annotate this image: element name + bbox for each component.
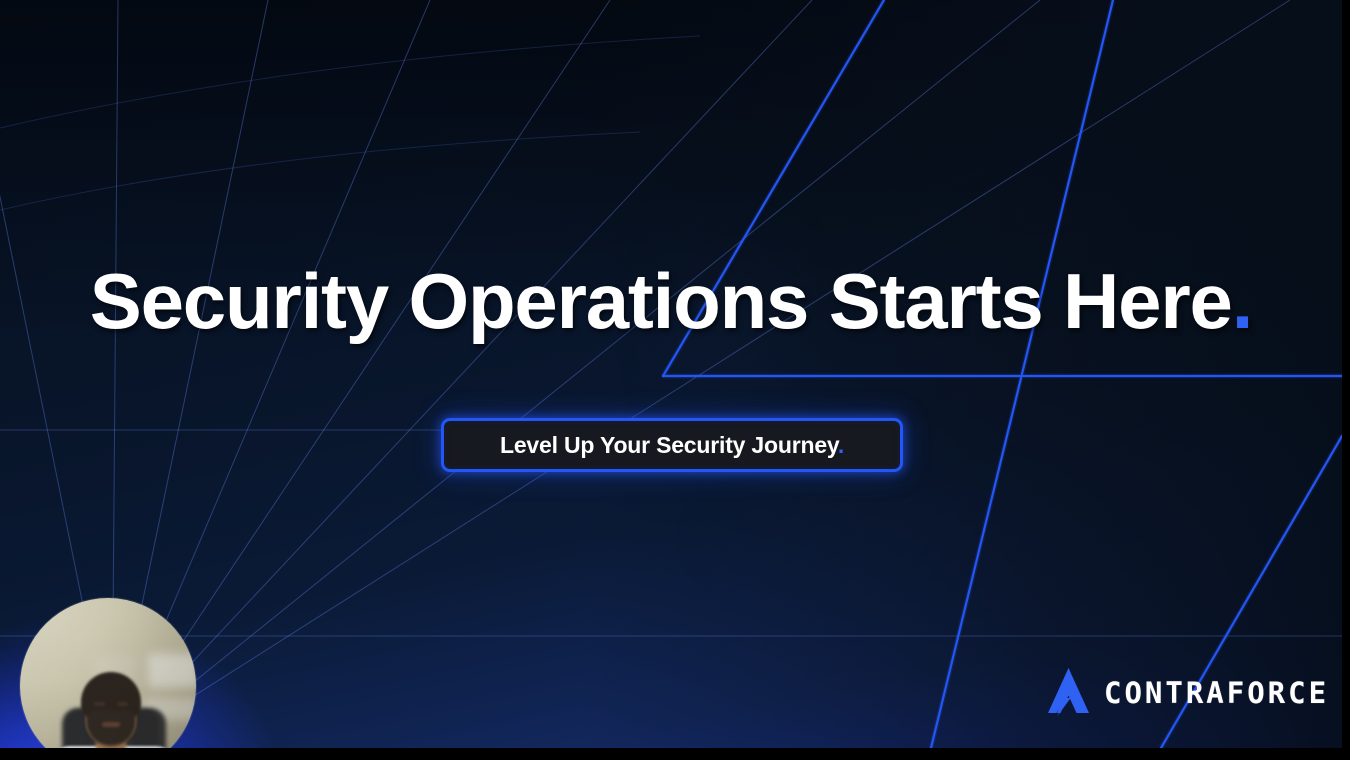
contraforce-triangle-bolt-icon <box>1044 666 1090 721</box>
presentation-screen: Security Operations Starts Here. Level U… <box>0 0 1350 760</box>
headline-accent-dot: . <box>1232 257 1252 345</box>
letterbox-bar-right <box>1342 0 1350 760</box>
presenter-video-bubble[interactable] <box>20 598 196 760</box>
contraforce-wordmark: CONTRAFORCE <box>1104 679 1329 708</box>
slide-canvas: Security Operations Starts Here. Level U… <box>0 0 1342 748</box>
background-accent-lines <box>0 0 1342 748</box>
cta-accent-dot: . <box>838 432 844 458</box>
cta-button-label: Level Up Your Security Journey <box>500 432 838 458</box>
headline-text: Security Operations Starts Here <box>90 257 1232 345</box>
cta-button-label-wrap: Level Up Your Security Journey. <box>500 432 844 459</box>
slide-headline: Security Operations Starts Here. <box>0 262 1342 340</box>
contraforce-logo: CONTRAFORCE <box>1044 666 1329 721</box>
webcam-light-shading <box>20 598 196 760</box>
letterbox-bar-bottom <box>0 748 1350 760</box>
level-up-cta-button[interactable]: Level Up Your Security Journey. <box>441 418 903 472</box>
